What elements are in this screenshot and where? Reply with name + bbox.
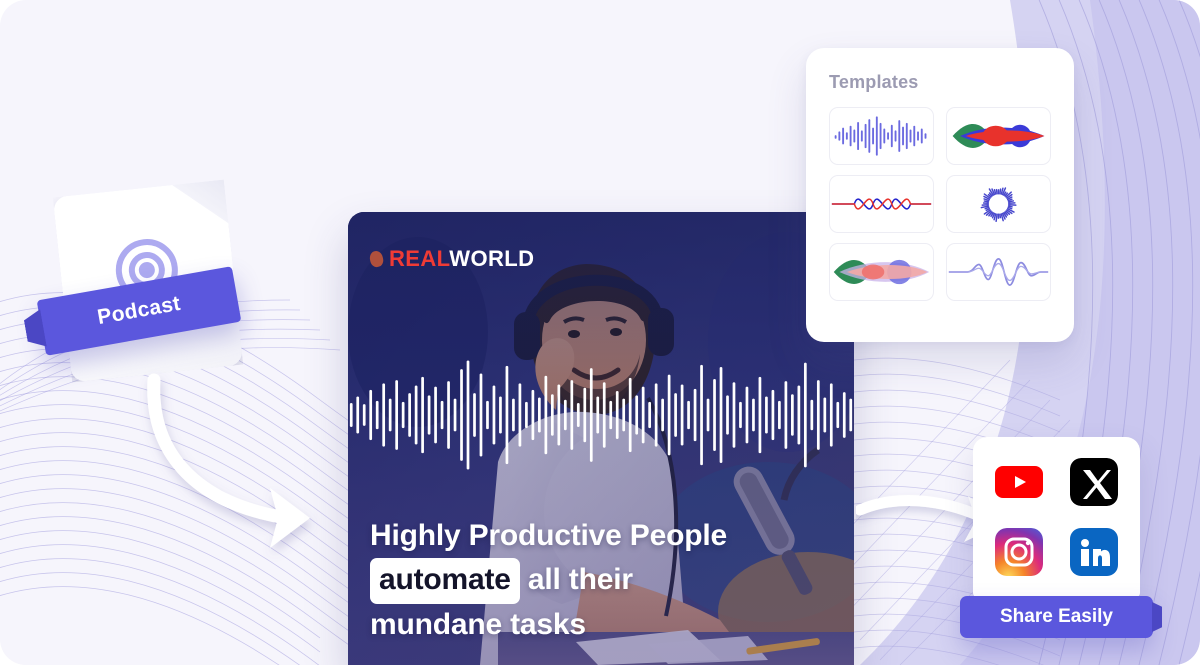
caption-line-3: mundane tasks <box>370 604 838 647</box>
template-blob-pastel[interactable] <box>829 243 934 301</box>
templates-panel: Templates <box>806 48 1074 342</box>
template-radial-circle-thumb <box>947 183 1050 225</box>
templates-grid <box>829 107 1051 301</box>
youtube-icon[interactable] <box>995 458 1043 506</box>
templates-title: Templates <box>829 72 1051 93</box>
share-panel <box>973 437 1140 597</box>
template-blob-pastel-thumb <box>830 251 933 293</box>
logo-text-real: REAL <box>389 246 449 271</box>
caption-line-2: automate all their <box>370 558 838 605</box>
podcast-ribbon-label: Podcast <box>96 292 183 330</box>
template-double-helix-thumb <box>830 183 933 225</box>
template-blob-multicolor[interactable] <box>946 107 1051 165</box>
youtube-glyph <box>995 458 1043 506</box>
template-bars-blue-thumb <box>830 115 933 157</box>
illustration-canvas: Podcast <box>0 0 1200 665</box>
share-easily-label: Share Easily <box>1000 606 1113 628</box>
instagram-icon[interactable] <box>995 528 1043 576</box>
caption-line-2-rest: all their <box>528 563 633 596</box>
video-preview-card[interactable]: REALWORLD Highly Productive People autom… <box>348 212 854 665</box>
template-blob-multicolor-thumb <box>947 115 1050 157</box>
x-twitter-icon[interactable] <box>1070 458 1118 506</box>
instagram-glyph <box>995 528 1043 576</box>
video-caption: Highly Productive People automate all th… <box>370 515 838 647</box>
caption-line-1: Highly Productive People <box>370 515 838 558</box>
template-bars-blue[interactable] <box>829 107 934 165</box>
x-glyph <box>1070 458 1118 506</box>
logo-mark-icon <box>368 250 384 268</box>
template-smooth-wave[interactable] <box>946 243 1051 301</box>
linkedin-glyph <box>1070 528 1118 576</box>
realworld-logo: REALWORLD <box>370 246 534 272</box>
linkedin-icon[interactable] <box>1070 528 1118 576</box>
template-radial-circle[interactable] <box>946 175 1051 233</box>
caption-highlight: automate <box>370 558 520 605</box>
arrow-podcast-to-video <box>128 352 364 564</box>
logo-text-world: WORLD <box>449 246 534 271</box>
audio-waveform <box>348 355 854 475</box>
template-smooth-wave-thumb <box>947 251 1050 293</box>
share-easily-banner: Share Easily <box>960 596 1153 638</box>
template-double-helix[interactable] <box>829 175 934 233</box>
